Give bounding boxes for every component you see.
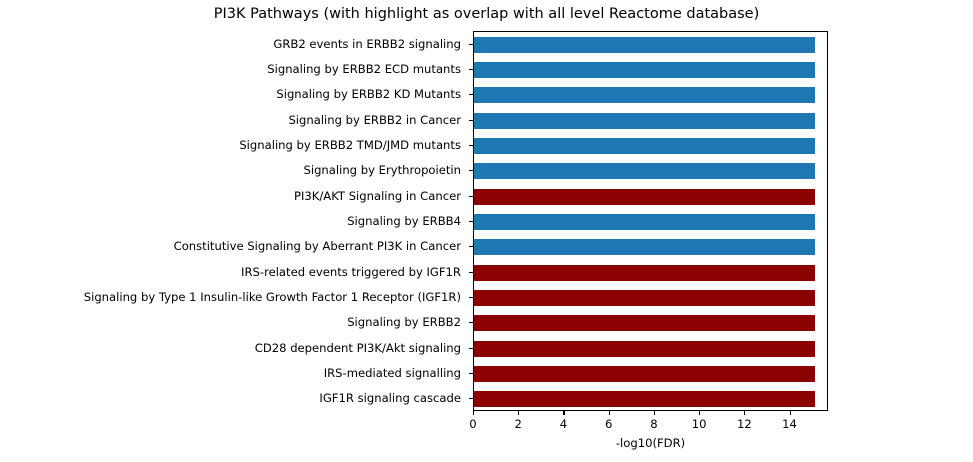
y-axis-tick-label: PI3K/AKT Signaling in Cancer [294,189,461,203]
y-axis-tick-label: Signaling by ERBB2 ECD mutants [267,62,461,76]
bar [474,315,815,331]
bar [474,239,815,255]
x-tick-mark [699,411,700,415]
y-axis-tick-label: Signaling by ERBB2 [347,315,461,329]
x-tick-label: 2 [498,417,538,431]
bar [474,265,815,281]
y-axis-tick-label: GRB2 events in ERBB2 signaling [273,37,461,51]
x-tick-mark [473,411,474,415]
bar [474,163,815,179]
y-axis-tick-label: Constitutive Signaling by Aberrant PI3K … [174,239,461,253]
x-tick-mark [654,411,655,415]
y-axis-tick-label: Signaling by ERBB4 [347,214,461,228]
bar [474,391,815,407]
x-tick-label: 4 [543,417,583,431]
y-axis-tick-label: IGF1R signaling cascade [319,391,461,405]
x-tick-mark [518,411,519,415]
y-axis-tick-label: Signaling by ERBB2 KD Mutants [276,87,461,101]
x-tick-label: 8 [634,417,674,431]
bar [474,189,815,205]
bar [474,341,815,357]
bar [474,62,815,78]
y-axis-tick-label: CD28 dependent PI3K/Akt signaling [255,341,461,355]
y-axis-tick-label: Signaling by ERBB2 in Cancer [288,113,461,127]
bar-series [474,32,827,410]
y-axis-tick-label: IRS-related events triggered by IGF1R [241,265,461,279]
plot-area [473,31,828,411]
x-tick-label: 6 [589,417,629,431]
y-axis-tick-labels: GRB2 events in ERBB2 signalingSignaling … [0,31,473,411]
chart-title: PI3K Pathways (with highlight as overlap… [0,6,973,22]
y-axis-tick-label: Signaling by Erythropoietin [303,163,461,177]
bar [474,37,815,53]
y-axis-tick-label: IRS-mediated signalling [324,366,461,380]
x-tick-mark [563,411,564,415]
x-axis-label: -log10(FDR) [473,436,828,450]
x-tick-label: 14 [770,417,810,431]
y-axis-tick-label: Signaling by Type 1 Insulin-like Growth … [84,290,461,304]
x-tick-label: 0 [453,417,493,431]
x-tick-label: 10 [679,417,719,431]
bar [474,138,815,154]
x-tick-mark [609,411,610,415]
bar [474,290,815,306]
x-tick-mark [790,411,791,415]
x-tick-label: 12 [724,417,764,431]
bar [474,87,815,103]
figure-canvas: PI3K Pathways (with highlight as overlap… [0,0,973,462]
bar [474,366,815,382]
y-axis-tick-label: Signaling by ERBB2 TMD/JMD mutants [239,138,461,152]
x-tick-mark [744,411,745,415]
bar [474,113,815,129]
bar [474,214,815,230]
